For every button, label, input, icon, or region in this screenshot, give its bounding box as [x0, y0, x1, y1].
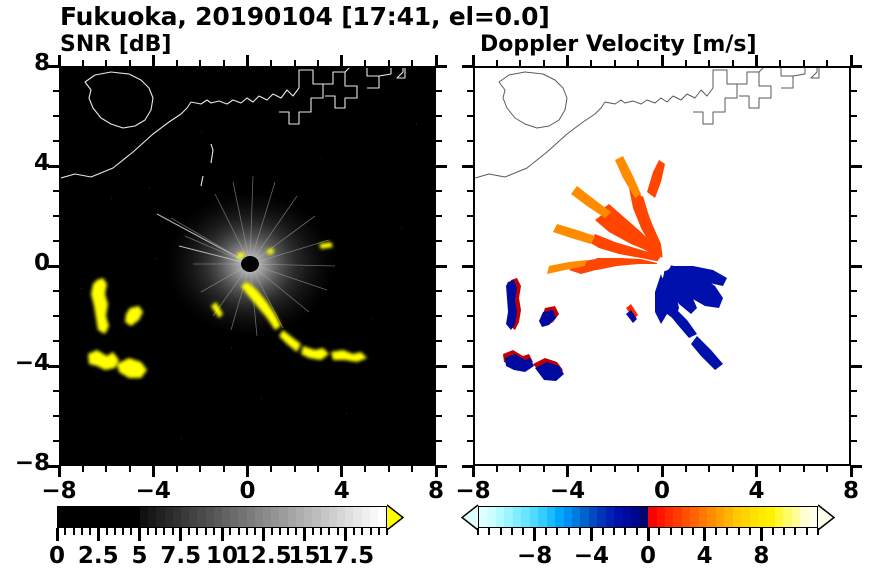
ytick-right-doppler-minor: [851, 440, 857, 442]
xtick-top-snr-minor: [411, 60, 413, 66]
xtick-top-doppler-minor: [519, 60, 521, 66]
xtick-snr-minor: [82, 466, 84, 472]
colorbar-tick-snr-major: [262, 528, 265, 541]
xtick-doppler-minor: [614, 466, 616, 472]
xtick-doppler-major: [472, 466, 475, 477]
colorbar-tick-doppler-minor: [579, 528, 581, 535]
xtick-top-snr-minor: [294, 60, 296, 66]
colorbar-segment: [758, 507, 766, 527]
colorbar-segment: [682, 507, 690, 527]
colorbar-segment: [74, 507, 82, 527]
xtick-top-snr-minor: [105, 60, 107, 66]
colorbar-tick-doppler-minor: [783, 528, 785, 535]
ytick-doppler-major: [462, 265, 473, 268]
xtick-top-snr-minor: [223, 60, 225, 66]
xtick-snr-minor: [317, 466, 319, 472]
ytick-right-snr-major: [436, 365, 447, 368]
xtick-snr-minor: [388, 466, 390, 472]
ytick-right-doppler-minor: [851, 240, 857, 242]
ytick-doppler-minor: [467, 290, 473, 292]
colorbar-tick-snr-minor: [130, 528, 132, 535]
ytick-right-snr-minor: [436, 215, 442, 217]
colorbar-tick-snr-minor: [238, 528, 240, 535]
colorbar-tick-doppler-minor: [556, 528, 558, 535]
panel-title-snr: SNR [dB]: [60, 32, 171, 57]
ytick-right-doppler-minor: [851, 315, 857, 317]
xtick-label-doppler-1: −4: [528, 478, 608, 504]
colorbar-segment: [165, 507, 173, 527]
colorbar-segment: [564, 507, 572, 527]
colorbar-segment: [124, 507, 132, 527]
colorbar-tick-doppler-minor: [715, 528, 717, 535]
ytick-snr-minor: [53, 140, 59, 142]
colorbar-segment: [547, 507, 555, 527]
xtick-snr-minor: [270, 466, 272, 472]
xtick-top-doppler-minor: [496, 60, 498, 66]
xtick-snr-minor: [129, 466, 131, 472]
plot-area-doppler[interactable]: [473, 66, 851, 466]
colorbar-segment: [487, 507, 495, 527]
colorbar-extend-min-border-doppler: [461, 504, 479, 531]
xtick-label-doppler-4: 8: [811, 478, 870, 504]
colorbar-segment: [345, 507, 353, 527]
xtick-top-doppler-major: [566, 55, 569, 66]
colorbar-segment: [189, 507, 197, 527]
ytick-right-doppler-major: [851, 365, 862, 368]
ytick-snr-minor: [53, 440, 59, 442]
xtick-doppler-major: [661, 466, 664, 477]
colorbar-segment: [521, 507, 529, 527]
colorbar-segment: [648, 507, 656, 527]
xtick-top-doppler-minor: [685, 60, 687, 66]
colorbar-tick-snr-minor: [287, 528, 289, 535]
colorbar-tick-doppler-minor: [749, 528, 751, 535]
ytick-right-doppler-major: [851, 465, 862, 468]
xtick-label-snr-3: 4: [302, 478, 382, 504]
ytick-right-snr-major: [436, 265, 447, 268]
colorbar-tick-snr-major: [138, 528, 141, 541]
xtick-snr-major: [152, 466, 155, 477]
xtick-top-snr-major: [246, 55, 249, 66]
colorbar-tick-snr-major: [221, 528, 224, 541]
ytick-doppler-minor: [467, 115, 473, 117]
xtick-snr-minor: [364, 466, 366, 472]
colorbar-segment: [530, 507, 538, 527]
colorbar-tick-snr-minor: [328, 528, 330, 535]
ytick-label-snr-4: −8: [0, 450, 50, 476]
colorbar-tick-snr-minor: [172, 528, 174, 535]
colorbar-segment: [91, 507, 99, 527]
colorbar-tick-doppler-major: [533, 528, 536, 541]
ytick-snr-minor: [53, 315, 59, 317]
colorbar-tick-label-doppler-4: 8: [716, 543, 806, 569]
ytick-right-doppler-minor: [851, 290, 857, 292]
colorbar-segment: [504, 507, 512, 527]
colorbar-doppler[interactable]: [478, 506, 818, 528]
xtick-top-snr-minor: [176, 60, 178, 66]
ytick-right-doppler-minor: [851, 140, 857, 142]
colorbar-tick-doppler-minor: [658, 528, 660, 535]
colorbar-segment: [538, 507, 546, 527]
colorbar-segment: [378, 507, 386, 527]
colorbar-segment: [255, 507, 263, 527]
xtick-top-snr-major: [340, 55, 343, 66]
colorbar-segment: [83, 507, 91, 527]
ytick-right-doppler-major: [851, 165, 862, 168]
xtick-top-snr-minor: [388, 60, 390, 66]
colorbar-segment: [657, 507, 665, 527]
colorbar-extend-max-border-snr: [387, 504, 405, 531]
colorbar-snr[interactable]: [57, 506, 387, 528]
colorbar-segment: [589, 507, 597, 527]
colorbar-tick-doppler-minor: [670, 528, 672, 535]
colorbar-tick-snr-minor: [106, 528, 108, 535]
xtick-snr-minor: [105, 466, 107, 472]
ytick-right-snr-minor: [436, 415, 442, 417]
ytick-snr-minor: [53, 115, 59, 117]
colorbar-tick-doppler-minor: [692, 528, 694, 535]
colorbar-tick-snr-major: [179, 528, 182, 541]
colorbar-tick-snr-minor: [64, 528, 66, 535]
colorbar-tick-snr-minor: [370, 528, 372, 535]
colorbar-tick-snr-minor: [188, 528, 190, 535]
ytick-right-doppler-minor: [851, 340, 857, 342]
colorbar-tick-doppler-major: [590, 528, 593, 541]
colorbar-segment: [750, 507, 758, 527]
colorbar-tick-doppler-minor: [500, 528, 502, 535]
colorbar-segment: [673, 507, 681, 527]
ytick-right-snr-minor: [436, 190, 442, 192]
colorbar-segment: [775, 507, 783, 527]
colorbar-tick-doppler-minor: [602, 528, 604, 535]
colorbar-segment: [792, 507, 800, 527]
xtick-top-snr-minor: [364, 60, 366, 66]
colorbar-tick-doppler-minor: [488, 528, 490, 535]
xtick-doppler-minor: [779, 466, 781, 472]
ytick-right-snr-minor: [436, 315, 442, 317]
ytick-right-snr-minor: [436, 140, 442, 142]
xtick-doppler-major: [566, 466, 569, 477]
colorbar-segment: [279, 507, 287, 527]
ytick-label-snr-0: 8: [0, 50, 50, 76]
colorbar-segment: [99, 507, 107, 527]
xtick-snr-major: [58, 466, 61, 477]
colorbar-tick-snr-minor: [254, 528, 256, 535]
xtick-snr-major: [246, 466, 249, 477]
colorbar-tick-doppler-minor: [636, 528, 638, 535]
xtick-doppler-major: [755, 466, 758, 477]
colorbar-tick-snr-major: [56, 528, 59, 541]
colorbar-segment: [597, 507, 605, 527]
xtick-top-snr-minor: [317, 60, 319, 66]
ytick-snr-minor: [53, 240, 59, 242]
radar-origin-marker: [241, 256, 259, 272]
colorbar-tick-snr-major: [303, 528, 306, 541]
colorbar-tick-doppler-major: [760, 528, 763, 541]
colorbar-tick-snr-minor: [295, 528, 297, 535]
xtick-doppler-minor: [826, 466, 828, 472]
ytick-right-snr-minor: [436, 240, 442, 242]
colorbar-tick-snr-major: [97, 528, 100, 541]
xtick-top-doppler-minor: [803, 60, 805, 66]
ytick-snr-minor: [53, 415, 59, 417]
ytick-doppler-minor: [467, 90, 473, 92]
colorbar-segment: [606, 507, 614, 527]
colorbar-segment: [107, 507, 115, 527]
colorbar-tick-snr-minor: [81, 528, 83, 535]
colorbar-segment: [66, 507, 74, 527]
ytick-right-snr-minor: [436, 290, 442, 292]
colorbar-segment: [580, 507, 588, 527]
ytick-right-doppler-minor: [851, 90, 857, 92]
colorbar-segment: [623, 507, 631, 527]
ytick-doppler-major: [462, 465, 473, 468]
xtick-label-doppler-0: −8: [433, 478, 513, 504]
colorbar-segment: [238, 507, 246, 527]
xtick-doppler-minor: [732, 466, 734, 472]
ytick-doppler-minor: [467, 190, 473, 192]
colorbar-tick-snr-minor: [196, 528, 198, 535]
colorbar-segment: [733, 507, 741, 527]
colorbar-segment: [312, 507, 320, 527]
xtick-top-snr-minor: [199, 60, 201, 66]
xtick-label-snr-0: −8: [19, 478, 99, 504]
colorbar-segment: [513, 507, 521, 527]
colorbar-tick-snr-minor: [213, 528, 215, 535]
colorbar-segment: [173, 507, 181, 527]
xtick-label-snr-2: 0: [208, 478, 288, 504]
colorbar-tick-snr-minor: [155, 528, 157, 535]
colorbar-segment: [329, 507, 337, 527]
colorbar-segment: [304, 507, 312, 527]
colorbar-segment: [222, 507, 230, 527]
xtick-snr-minor: [199, 466, 201, 472]
doppler-data-canvas: [475, 68, 849, 464]
ytick-doppler-major: [462, 65, 473, 68]
ytick-doppler-minor: [467, 140, 473, 142]
ytick-snr-minor: [53, 340, 59, 342]
colorbar-tick-doppler-minor: [681, 528, 683, 535]
ytick-doppler-minor: [467, 440, 473, 442]
ytick-doppler-minor: [467, 215, 473, 217]
ytick-doppler-minor: [467, 390, 473, 392]
colorbar-segment: [370, 507, 378, 527]
colorbar-tick-doppler-minor: [522, 528, 524, 535]
xtick-snr-minor: [223, 466, 225, 472]
colorbar-tick-snr-minor: [147, 528, 149, 535]
colorbar-segment: [479, 507, 487, 527]
colorbar-tick-snr-major: [344, 528, 347, 541]
xtick-doppler-minor: [708, 466, 710, 472]
xtick-doppler-minor: [803, 466, 805, 472]
colorbar-segment: [132, 507, 140, 527]
colorbar-segment: [181, 507, 189, 527]
colorbar-tick-snr-minor: [279, 528, 281, 535]
colorbar-segment: [665, 507, 673, 527]
xtick-top-snr-minor: [270, 60, 272, 66]
ytick-right-snr-minor: [436, 440, 442, 442]
colorbar-segment: [58, 507, 66, 527]
colorbar-segment: [707, 507, 715, 527]
colorbar-segment: [699, 507, 707, 527]
radar-origin-marker: [657, 257, 671, 271]
ytick-right-snr-minor: [436, 115, 442, 117]
ytick-right-snr-minor: [436, 340, 442, 342]
plot-area-snr[interactable]: [59, 66, 436, 466]
xtick-label-snr-1: −4: [113, 478, 193, 504]
ytick-right-snr-major: [436, 165, 447, 168]
colorbar-extend-max-border-doppler: [818, 504, 836, 531]
ytick-doppler-major: [462, 365, 473, 368]
colorbar-segment: [288, 507, 296, 527]
colorbar-tick-doppler-minor: [772, 528, 774, 535]
ytick-snr-minor: [53, 90, 59, 92]
colorbar-segment: [631, 507, 639, 527]
colorbar-tick-doppler-minor: [545, 528, 547, 535]
colorbar-segment: [271, 507, 279, 527]
panel-title-doppler: Doppler Velocity [m/s]: [480, 32, 757, 57]
colorbar-segment: [572, 507, 580, 527]
xtick-snr-major: [340, 466, 343, 477]
xtick-doppler-minor: [637, 466, 639, 472]
colorbar-segment: [206, 507, 214, 527]
colorbar-tick-snr-minor: [386, 528, 388, 535]
ytick-right-doppler-major: [851, 265, 862, 268]
colorbar-segment: [337, 507, 345, 527]
xtick-top-doppler-minor: [826, 60, 828, 66]
colorbar-segment: [809, 507, 817, 527]
xtick-top-doppler-minor: [543, 60, 545, 66]
xtick-snr-major: [435, 466, 438, 477]
colorbar-segment: [800, 507, 808, 527]
xtick-doppler-minor: [543, 466, 545, 472]
colorbar-tick-doppler-minor: [568, 528, 570, 535]
ytick-snr-minor: [53, 290, 59, 292]
colorbar-segment: [741, 507, 749, 527]
colorbar-segment: [156, 507, 164, 527]
xtick-snr-minor: [294, 466, 296, 472]
xtick-top-doppler-minor: [590, 60, 592, 66]
ytick-right-snr-minor: [436, 390, 442, 392]
colorbar-segment: [115, 507, 123, 527]
colorbar-segment: [614, 507, 622, 527]
colorbar-tick-snr-minor: [114, 528, 116, 535]
colorbar-tick-snr-minor: [361, 528, 363, 535]
colorbar-tick-doppler-minor: [726, 528, 728, 535]
xtick-label-doppler-3: 4: [717, 478, 797, 504]
colorbar-tick-snr-minor: [337, 528, 339, 535]
ytick-doppler-minor: [467, 240, 473, 242]
xtick-snr-minor: [176, 466, 178, 472]
colorbar-tick-doppler-major: [647, 528, 650, 541]
figure-root: Fukuoka, 20190104 [17:41, el=0.0] SNR [d…: [0, 0, 870, 570]
ytick-doppler-minor: [467, 415, 473, 417]
xtick-top-snr-minor: [129, 60, 131, 66]
colorbar-segment: [296, 507, 304, 527]
xtick-label-doppler-2: 0: [622, 478, 702, 504]
ytick-snr-minor: [53, 215, 59, 217]
ytick-right-doppler-minor: [851, 390, 857, 392]
colorbar-tick-snr-minor: [73, 528, 75, 535]
colorbar-tick-snr-minor: [163, 528, 165, 535]
ytick-doppler-minor: [467, 315, 473, 317]
ytick-right-snr-major: [436, 65, 447, 68]
colorbar-tick-doppler-minor: [613, 528, 615, 535]
xtick-doppler-minor: [496, 466, 498, 472]
snr-data-canvas: [61, 68, 434, 464]
colorbar-segment: [766, 507, 774, 527]
figure-title: Fukuoka, 20190104 [17:41, el=0.0]: [60, 2, 820, 31]
colorbar-tick-snr-minor: [378, 528, 380, 535]
ytick-snr-minor: [53, 190, 59, 192]
colorbar-tick-snr-minor: [229, 528, 231, 535]
xtick-top-doppler-minor: [779, 60, 781, 66]
xtick-doppler-minor: [519, 466, 521, 472]
xtick-doppler-major: [850, 466, 853, 477]
colorbar-tick-snr-minor: [271, 528, 273, 535]
xtick-doppler-minor: [685, 466, 687, 472]
xtick-top-snr-minor: [82, 60, 84, 66]
ytick-label-snr-1: 4: [0, 150, 50, 176]
colorbar-segment: [724, 507, 732, 527]
colorbar-segment: [555, 507, 563, 527]
ytick-right-doppler-minor: [851, 215, 857, 217]
colorbar-segment: [362, 507, 370, 527]
colorbar-segment: [140, 507, 148, 527]
xtick-top-snr-major: [152, 55, 155, 66]
colorbar-segment: [230, 507, 238, 527]
colorbar-tick-doppler-minor: [477, 528, 479, 535]
colorbar-tick-label-snr-7: 17.5: [301, 543, 391, 569]
colorbar-tick-snr-minor: [312, 528, 314, 535]
ytick-label-snr-3: −4: [0, 350, 50, 376]
xtick-doppler-minor: [590, 466, 592, 472]
colorbar-segment: [214, 507, 222, 527]
colorbar-segment: [247, 507, 255, 527]
ytick-right-snr-minor: [436, 90, 442, 92]
colorbar-segment: [263, 507, 271, 527]
ytick-label-snr-2: 0: [0, 250, 50, 276]
colorbar-segment: [197, 507, 205, 527]
colorbar-tick-snr-minor: [320, 528, 322, 535]
ytick-right-doppler-major: [851, 65, 862, 68]
colorbar-tick-snr-minor: [89, 528, 91, 535]
ytick-right-snr-major: [436, 465, 447, 468]
xtick-top-doppler-minor: [708, 60, 710, 66]
colorbar-tick-doppler-minor: [624, 528, 626, 535]
colorbar-tick-snr-minor: [205, 528, 207, 535]
colorbar-segment: [640, 507, 648, 527]
ytick-doppler-minor: [467, 340, 473, 342]
ytick-doppler-major: [462, 165, 473, 168]
colorbar-segment: [321, 507, 329, 527]
colorbar-segment: [783, 507, 791, 527]
colorbar-segment: [716, 507, 724, 527]
xtick-top-doppler-minor: [637, 60, 639, 66]
colorbar-segment: [148, 507, 156, 527]
xtick-snr-minor: [411, 466, 413, 472]
ytick-right-doppler-minor: [851, 190, 857, 192]
colorbar-tick-doppler-minor: [806, 528, 808, 535]
xtick-top-doppler-minor: [614, 60, 616, 66]
ytick-right-doppler-minor: [851, 115, 857, 117]
colorbar-segment: [690, 507, 698, 527]
colorbar-tick-doppler-minor: [511, 528, 513, 535]
colorbar-segment: [496, 507, 504, 527]
colorbar-tick-doppler-minor: [794, 528, 796, 535]
colorbar-tick-doppler-major: [703, 528, 706, 541]
ytick-snr-minor: [53, 390, 59, 392]
